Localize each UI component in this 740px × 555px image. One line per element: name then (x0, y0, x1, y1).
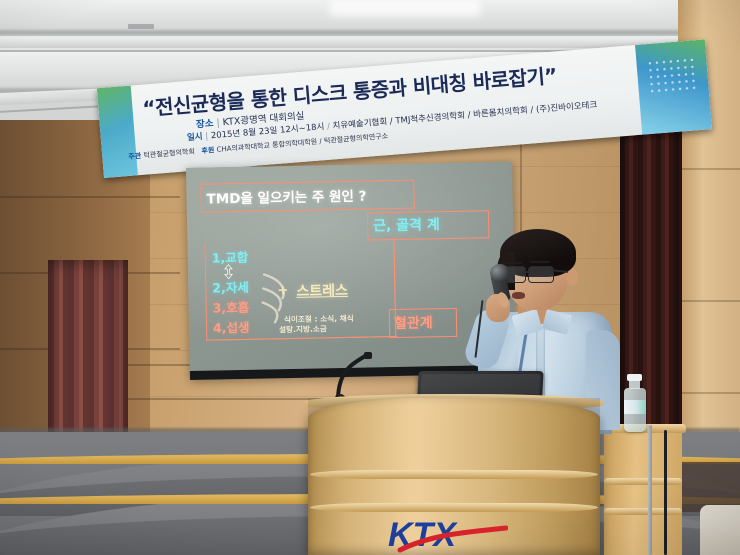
slide-box-musculoskeletal-label: 근, 골격 계 (373, 214, 440, 235)
podium-rail-lower (310, 503, 598, 512)
photo-scene: “전신균형을 통한 디스크 통증과 비대칭 바로잡기” 장소 | KTX광명역 … (0, 0, 740, 555)
wall-seam (0, 196, 180, 198)
banner-host-label: 주관 (128, 152, 141, 161)
ceiling-vent-icon (128, 24, 154, 29)
banner-host-value: 턱관절균형의학회 (143, 148, 195, 160)
slide-title: TMD을 일으키는 주 원인 ? (206, 185, 366, 208)
podium-rail-upper (310, 470, 598, 479)
ktx-logo-icon: KTX (388, 512, 508, 555)
power-cable-gray (648, 425, 652, 555)
banner-sep: | (205, 132, 209, 142)
slide-cause-2: 2,자세 (212, 277, 249, 297)
banner-graphic-left (97, 86, 138, 178)
chair-foreground (700, 505, 740, 555)
stage-curtain-left (48, 260, 128, 452)
presenter-mouth (512, 292, 525, 299)
right-wall-seam (678, 392, 740, 394)
slide-diet-note-2: 설탕.지방.소금 (279, 323, 327, 335)
side-table (604, 428, 682, 555)
slide-stress-label: 스트레스 (296, 280, 348, 301)
slide-box-vascular-label: 혈관계 (394, 312, 433, 333)
slide-cause-4: 4,섭생 (213, 317, 250, 337)
eyeglasses-bridge (523, 271, 530, 273)
right-wall-seam (678, 300, 740, 302)
side-table-rail (604, 508, 682, 515)
slide-plus-sign: + (277, 283, 288, 298)
power-cable-black (664, 430, 667, 555)
banner-sep: | (216, 118, 220, 129)
up-down-arrow-icon (224, 264, 233, 279)
banner-sponsor-label: 후원 (201, 146, 214, 155)
banner-date-label: 일시 (187, 132, 203, 143)
right-wall-seam (678, 168, 740, 170)
slide-cause-3: 3,호흡 (212, 297, 249, 317)
projected-slide: TMD을 일으키는 주 원인 ? 근, 골격 계 혈관계 1,교합 2,자세 3… (186, 162, 516, 371)
banner-sep: / (327, 122, 331, 132)
side-table-rail (604, 478, 682, 485)
ceiling-light-glare (330, 0, 480, 16)
